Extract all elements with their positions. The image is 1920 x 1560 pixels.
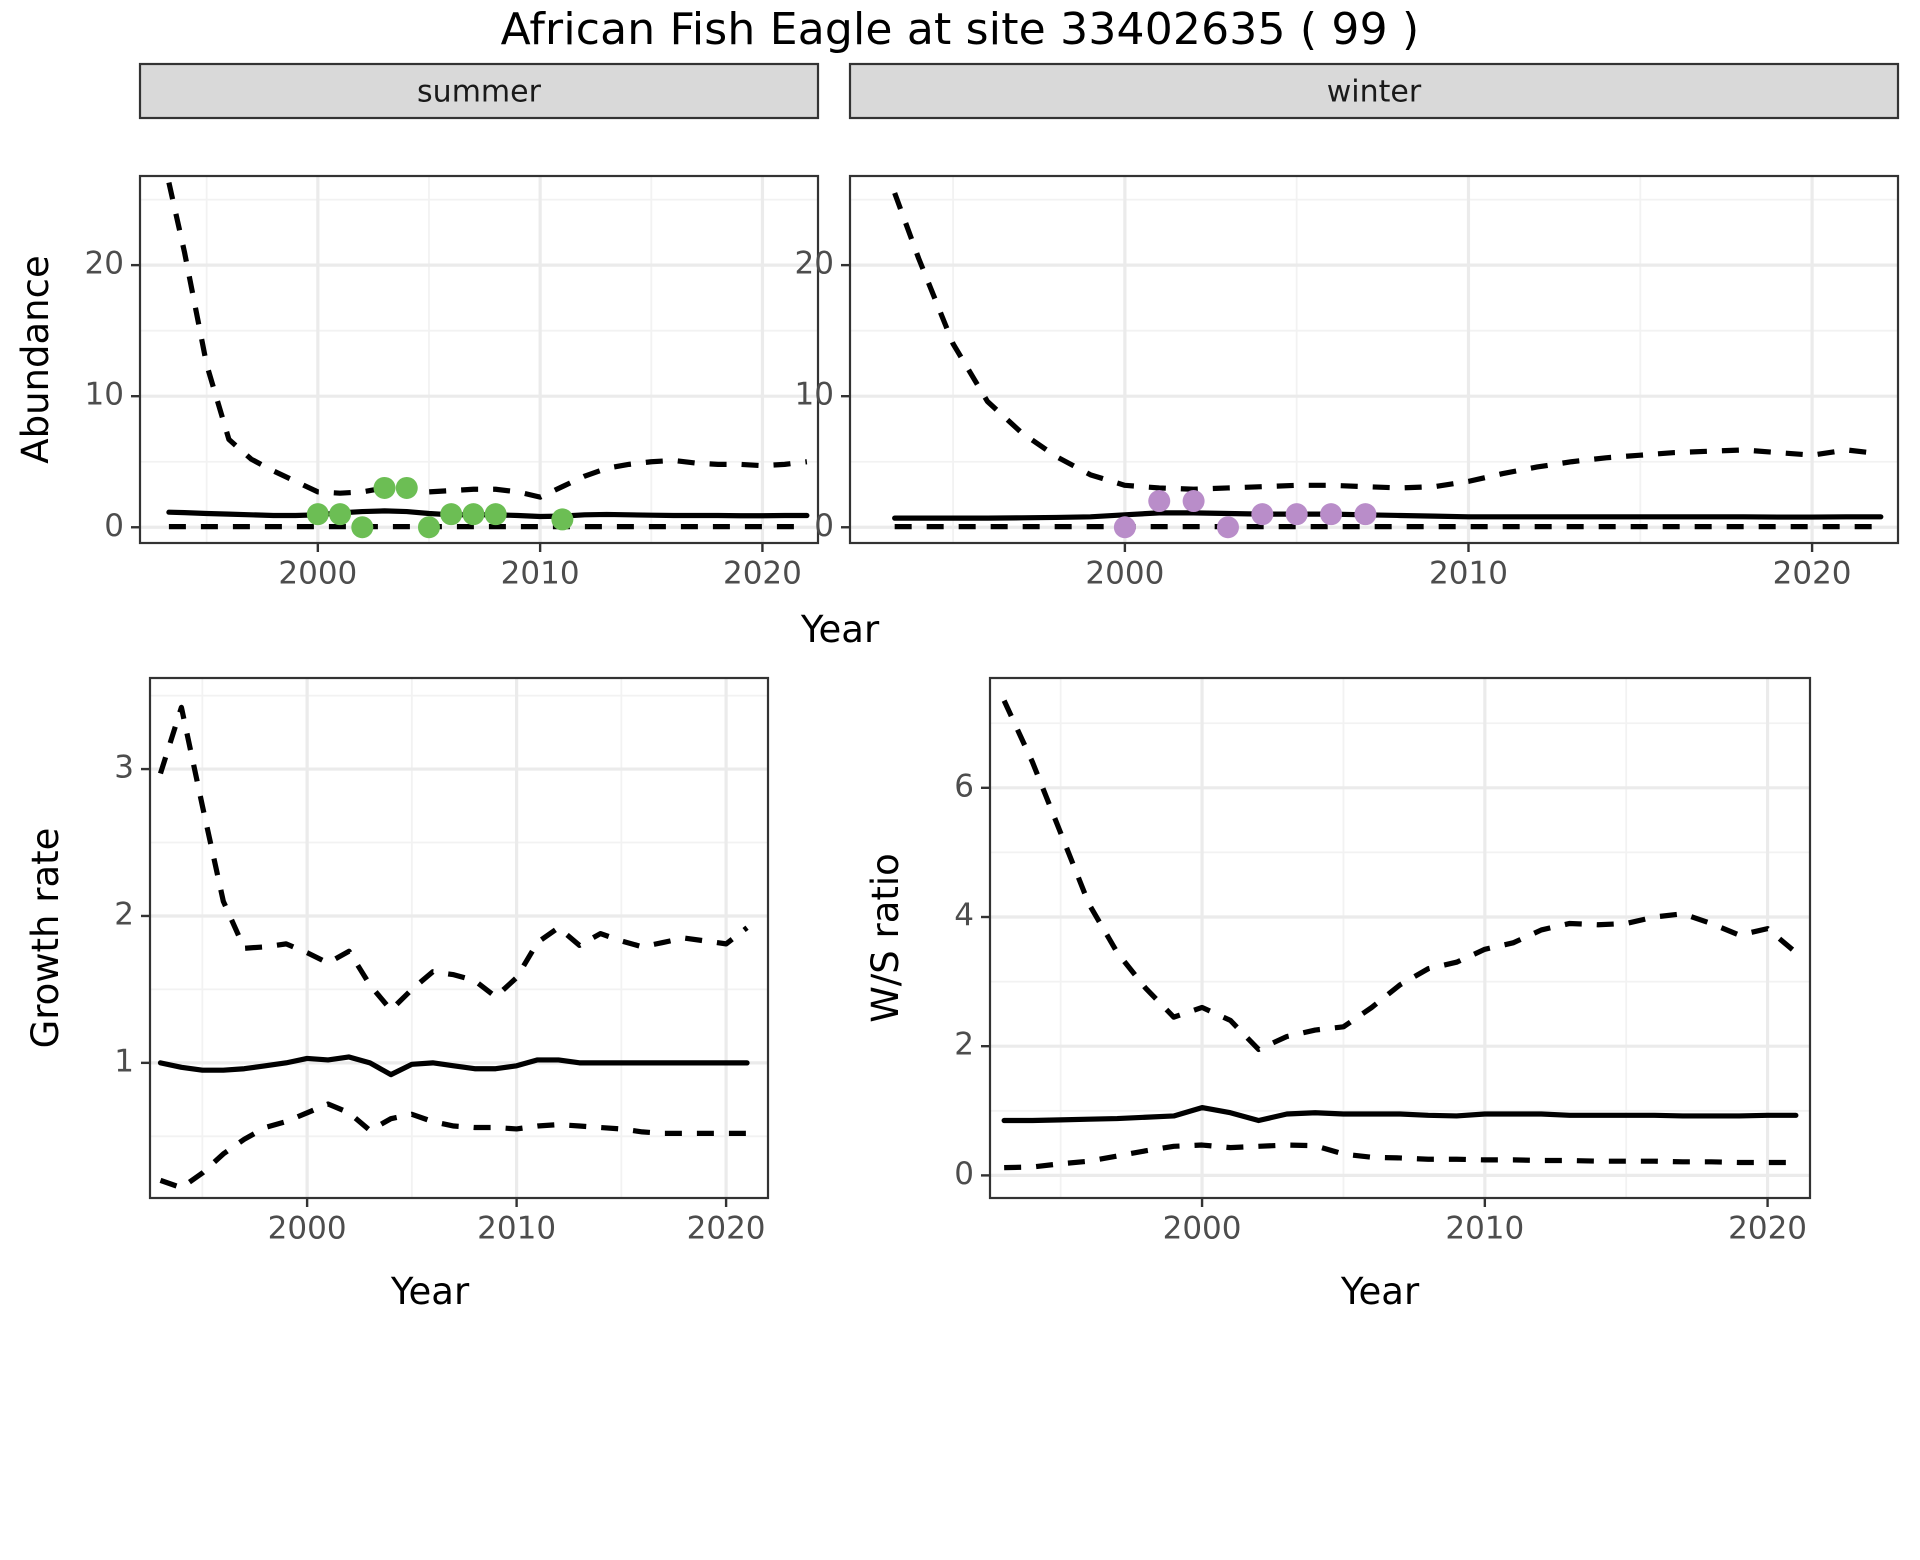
x-tick-label: 2010 (501, 555, 580, 591)
abundance-summer-svg: summer20002010202001020Abundance (0, 60, 840, 605)
panel-ws-ratio: 2000201020200246W/S ratio (840, 660, 1920, 1260)
axis-title-abundance: Abundance (14, 255, 57, 463)
axis-title-growth-rate: Growth rate (24, 828, 67, 1049)
y-tick-label: 20 (795, 246, 834, 282)
axis-title-w-s-ratio: W/S ratio (864, 853, 907, 1023)
observation-point (1354, 503, 1376, 525)
ws-ratio-svg: 2000201020200246W/S ratio (840, 660, 1920, 1260)
axis-title-year-top: Year (800, 608, 880, 651)
observation-point (374, 477, 396, 499)
y-tick-label: 6 (954, 768, 974, 804)
axis-title-year-bottom-right: Year (1340, 1270, 1420, 1313)
panel-abundance-summer: summer20002010202001020Abundance (0, 60, 840, 605)
observation-point (1114, 516, 1136, 538)
x-tick-label: 2010 (477, 1210, 556, 1246)
observation-point (1183, 490, 1205, 512)
figure-root: African Fish Eagle at site 33402635 ( 99… (0, 0, 1920, 1560)
x-tick-label: 2000 (268, 1210, 347, 1246)
y-tick-label: 2 (114, 896, 134, 932)
observation-point (351, 516, 373, 538)
observation-point (307, 503, 329, 525)
panel-abundance-winter: winter20002010202001020 (840, 60, 1920, 605)
xaxis-title-bl-svg: Year (0, 1252, 840, 1322)
observation-point (1286, 503, 1308, 525)
y-tick-label: 0 (814, 508, 834, 544)
panel-year-axis-top: Year (0, 596, 1920, 658)
xaxis-title-br-svg: Year (840, 1252, 1920, 1322)
y-tick-label: 20 (85, 246, 124, 282)
observation-point (329, 503, 351, 525)
y-tick-label: 3 (114, 750, 134, 786)
observation-point (1148, 490, 1170, 512)
strip-label-winter: winter (1327, 75, 1422, 110)
observation-point (1217, 516, 1239, 538)
y-tick-label: 4 (954, 898, 974, 934)
x-tick-label: 2020 (687, 1210, 766, 1246)
x-tick-label: 2020 (1728, 1210, 1807, 1246)
x-tick-label: 2010 (1429, 555, 1508, 591)
axis-title-year-bottom-left: Year (390, 1270, 470, 1313)
abundance-winter-svg: winter20002010202001020 (840, 60, 1920, 605)
observation-point (551, 508, 573, 530)
y-tick-label: 0 (104, 508, 124, 544)
observation-point (1320, 503, 1342, 525)
xaxis-title-top-svg: Year (0, 596, 1920, 658)
strip-label-summer: summer (417, 75, 542, 110)
observation-point (418, 516, 440, 538)
y-tick-label: 2 (954, 1027, 974, 1063)
observation-point (485, 503, 507, 525)
y-tick-label: 10 (795, 377, 834, 413)
observation-point (396, 477, 418, 499)
x-tick-label: 2010 (1445, 1210, 1524, 1246)
growth-rate-svg: 200020102020123Growth rate (0, 660, 840, 1260)
x-tick-label: 2020 (1773, 555, 1852, 591)
y-tick-label: 10 (85, 377, 124, 413)
page-title: African Fish Eagle at site 33402635 ( 99… (0, 4, 1920, 55)
x-tick-label: 2000 (1163, 1210, 1242, 1246)
x-tick-label: 2020 (723, 555, 802, 591)
observation-point (440, 503, 462, 525)
panel-year-axis-bottom-right: Year (840, 1252, 1920, 1322)
observation-point (1251, 503, 1273, 525)
panel-growth-rate: 200020102020123Growth rate (0, 660, 840, 1260)
panel-year-axis-bottom-left: Year (0, 1252, 840, 1322)
x-tick-label: 2000 (1085, 555, 1164, 591)
observation-point (462, 503, 484, 525)
x-tick-label: 2000 (278, 555, 357, 591)
y-tick-label: 1 (114, 1043, 134, 1079)
y-tick-label: 0 (954, 1156, 974, 1192)
